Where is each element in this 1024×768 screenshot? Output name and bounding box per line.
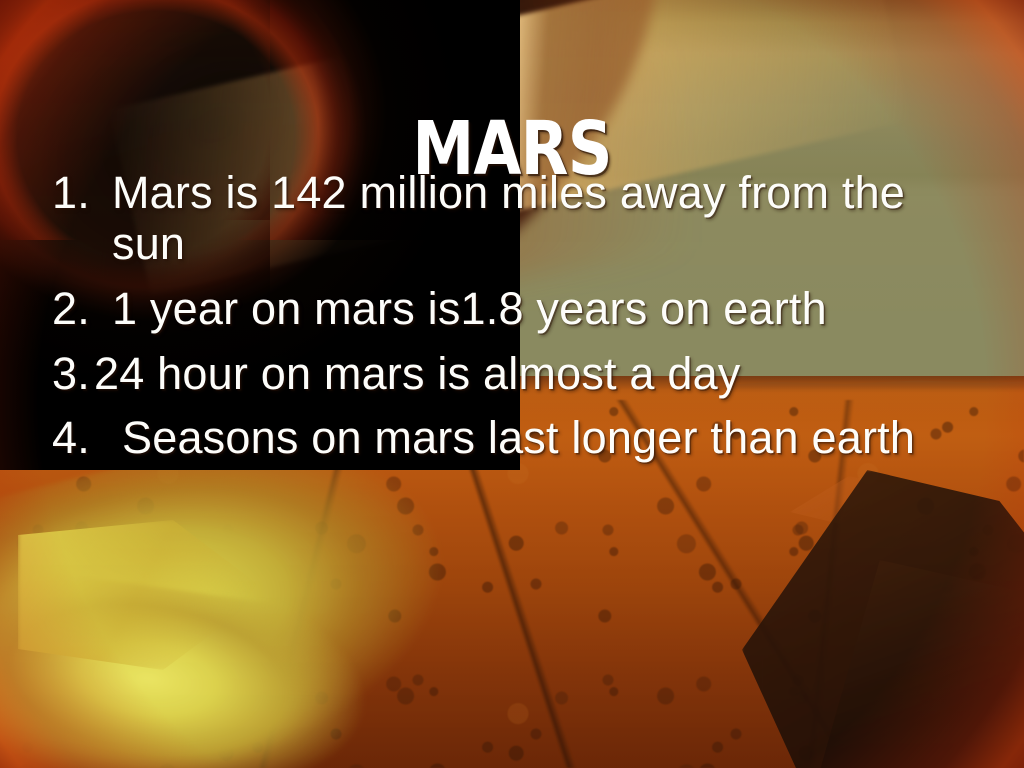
fact-text-3: 24 hour on mars is almost a day — [94, 349, 982, 400]
fact-text-2: 1 year on mars is1.8 years on earth — [112, 284, 982, 335]
fact-number-3: 3. — [52, 349, 98, 400]
slide-content: MARS 1. Mars is 142 million miles away f… — [0, 0, 1024, 768]
fact-text-1: Mars is 142 million miles away from the … — [112, 168, 982, 270]
fact-list-item-4: 4. Seasons on mars last longer than eart… — [52, 413, 982, 464]
fact-list-item-2: 2. 1 year on mars is1.8 years on earth — [52, 284, 982, 335]
fact-number-2: 2. — [52, 284, 112, 335]
fact-list: 1. Mars is 142 million miles away from t… — [52, 168, 982, 478]
presentation-slide: MARS 1. Mars is 142 million miles away f… — [0, 0, 1024, 768]
fact-number-1: 1. — [52, 168, 112, 219]
fact-list-item-1: 1. Mars is 142 million miles away from t… — [52, 168, 982, 270]
fact-text-4: Seasons on mars last longer than earth — [122, 413, 982, 464]
fact-number-4: 4. — [52, 413, 112, 464]
fact-list-item-3: 3. 24 hour on mars is almost a day — [52, 349, 982, 400]
